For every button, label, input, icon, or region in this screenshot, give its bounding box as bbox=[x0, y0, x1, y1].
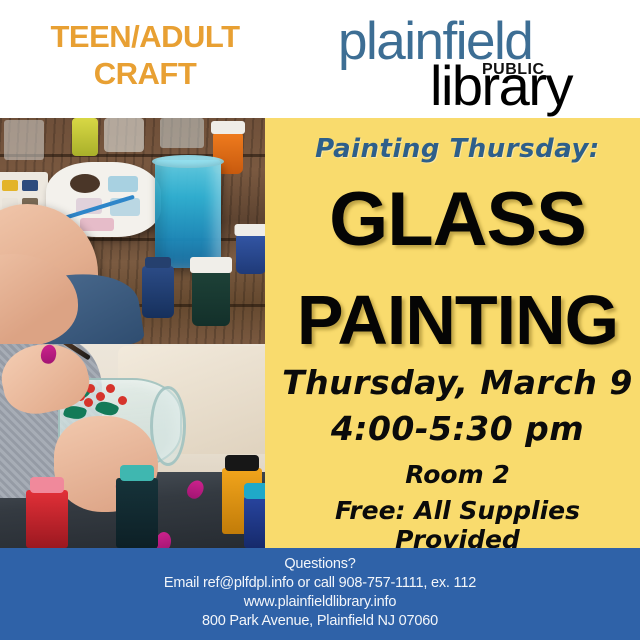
event-time: 4:00-5:30 pm bbox=[275, 410, 640, 448]
paint-cake bbox=[22, 180, 38, 191]
teal-paint-bottle bbox=[116, 478, 158, 548]
yellow-edge-strip bbox=[265, 118, 277, 548]
audience-category-line1: TEEN/ADULT bbox=[50, 19, 239, 54]
library-logo: plainfield library PUBLIC bbox=[330, 14, 620, 114]
background-jar bbox=[4, 120, 44, 160]
event-room: Room 2 bbox=[275, 460, 640, 489]
photo-jar-painting bbox=[0, 344, 275, 548]
paint-cake bbox=[2, 180, 18, 191]
yellow-bottle bbox=[72, 118, 98, 156]
green-paint-jar bbox=[192, 270, 230, 326]
event-cost-note: Free: All Supplies Provided bbox=[275, 496, 640, 554]
contact-footer: Questions? Email ref@plfdpl.info or call… bbox=[0, 548, 640, 640]
painted-berry bbox=[96, 392, 105, 401]
background-jar bbox=[104, 118, 144, 152]
footer-website: www.plainfieldlibrary.info bbox=[0, 593, 640, 612]
photo-collage bbox=[0, 118, 275, 548]
background-jar bbox=[160, 118, 204, 148]
footer-address: 800 Park Avenue, Plainfield NJ 07060 bbox=[0, 612, 640, 631]
event-info-panel: Painting Thursday: GLASS PAINTING Thursd… bbox=[275, 118, 640, 548]
palette-well bbox=[80, 218, 114, 231]
jar-cap bbox=[145, 257, 171, 268]
header-bar: TEEN/ADULT CRAFT plainfield library PUBL… bbox=[0, 0, 640, 118]
navy-paint-jar bbox=[142, 266, 174, 318]
bottle-cap bbox=[120, 465, 154, 481]
palette-well bbox=[108, 176, 138, 192]
flyer-poster: TEEN/ADULT CRAFT plainfield library PUBL… bbox=[0, 0, 640, 640]
painted-berry bbox=[118, 396, 127, 405]
photo-glass-painting-table bbox=[0, 118, 275, 344]
jar-cap bbox=[211, 121, 245, 134]
audience-category-line2: CRAFT bbox=[0, 55, 290, 92]
logo-word-public: PUBLIC bbox=[482, 61, 545, 78]
footer-questions-label: Questions? bbox=[0, 555, 640, 574]
painted-fingernail bbox=[39, 344, 58, 365]
event-series-kicker: Painting Thursday: bbox=[275, 134, 640, 164]
painted-berry bbox=[106, 384, 115, 393]
palette-thumb-hole bbox=[70, 174, 100, 193]
jar-cap bbox=[190, 257, 232, 273]
event-title-line1: GLASS bbox=[275, 180, 640, 260]
red-paint-bottle bbox=[26, 490, 68, 548]
bottle-cap bbox=[30, 477, 64, 493]
blue-paint-jar bbox=[236, 234, 266, 274]
painted-berry bbox=[84, 398, 93, 407]
blue-drinking-glass bbox=[155, 160, 221, 268]
event-date: Thursday, March 9 bbox=[275, 364, 640, 402]
footer-email-phone: Email ref@plfdpl.info or call 908-757-11… bbox=[0, 574, 640, 593]
event-title-line2: PAINTING bbox=[275, 280, 640, 360]
bottle-cap bbox=[225, 455, 259, 471]
jar-cap bbox=[235, 224, 268, 236]
audience-category: TEEN/ADULT CRAFT bbox=[0, 18, 290, 92]
